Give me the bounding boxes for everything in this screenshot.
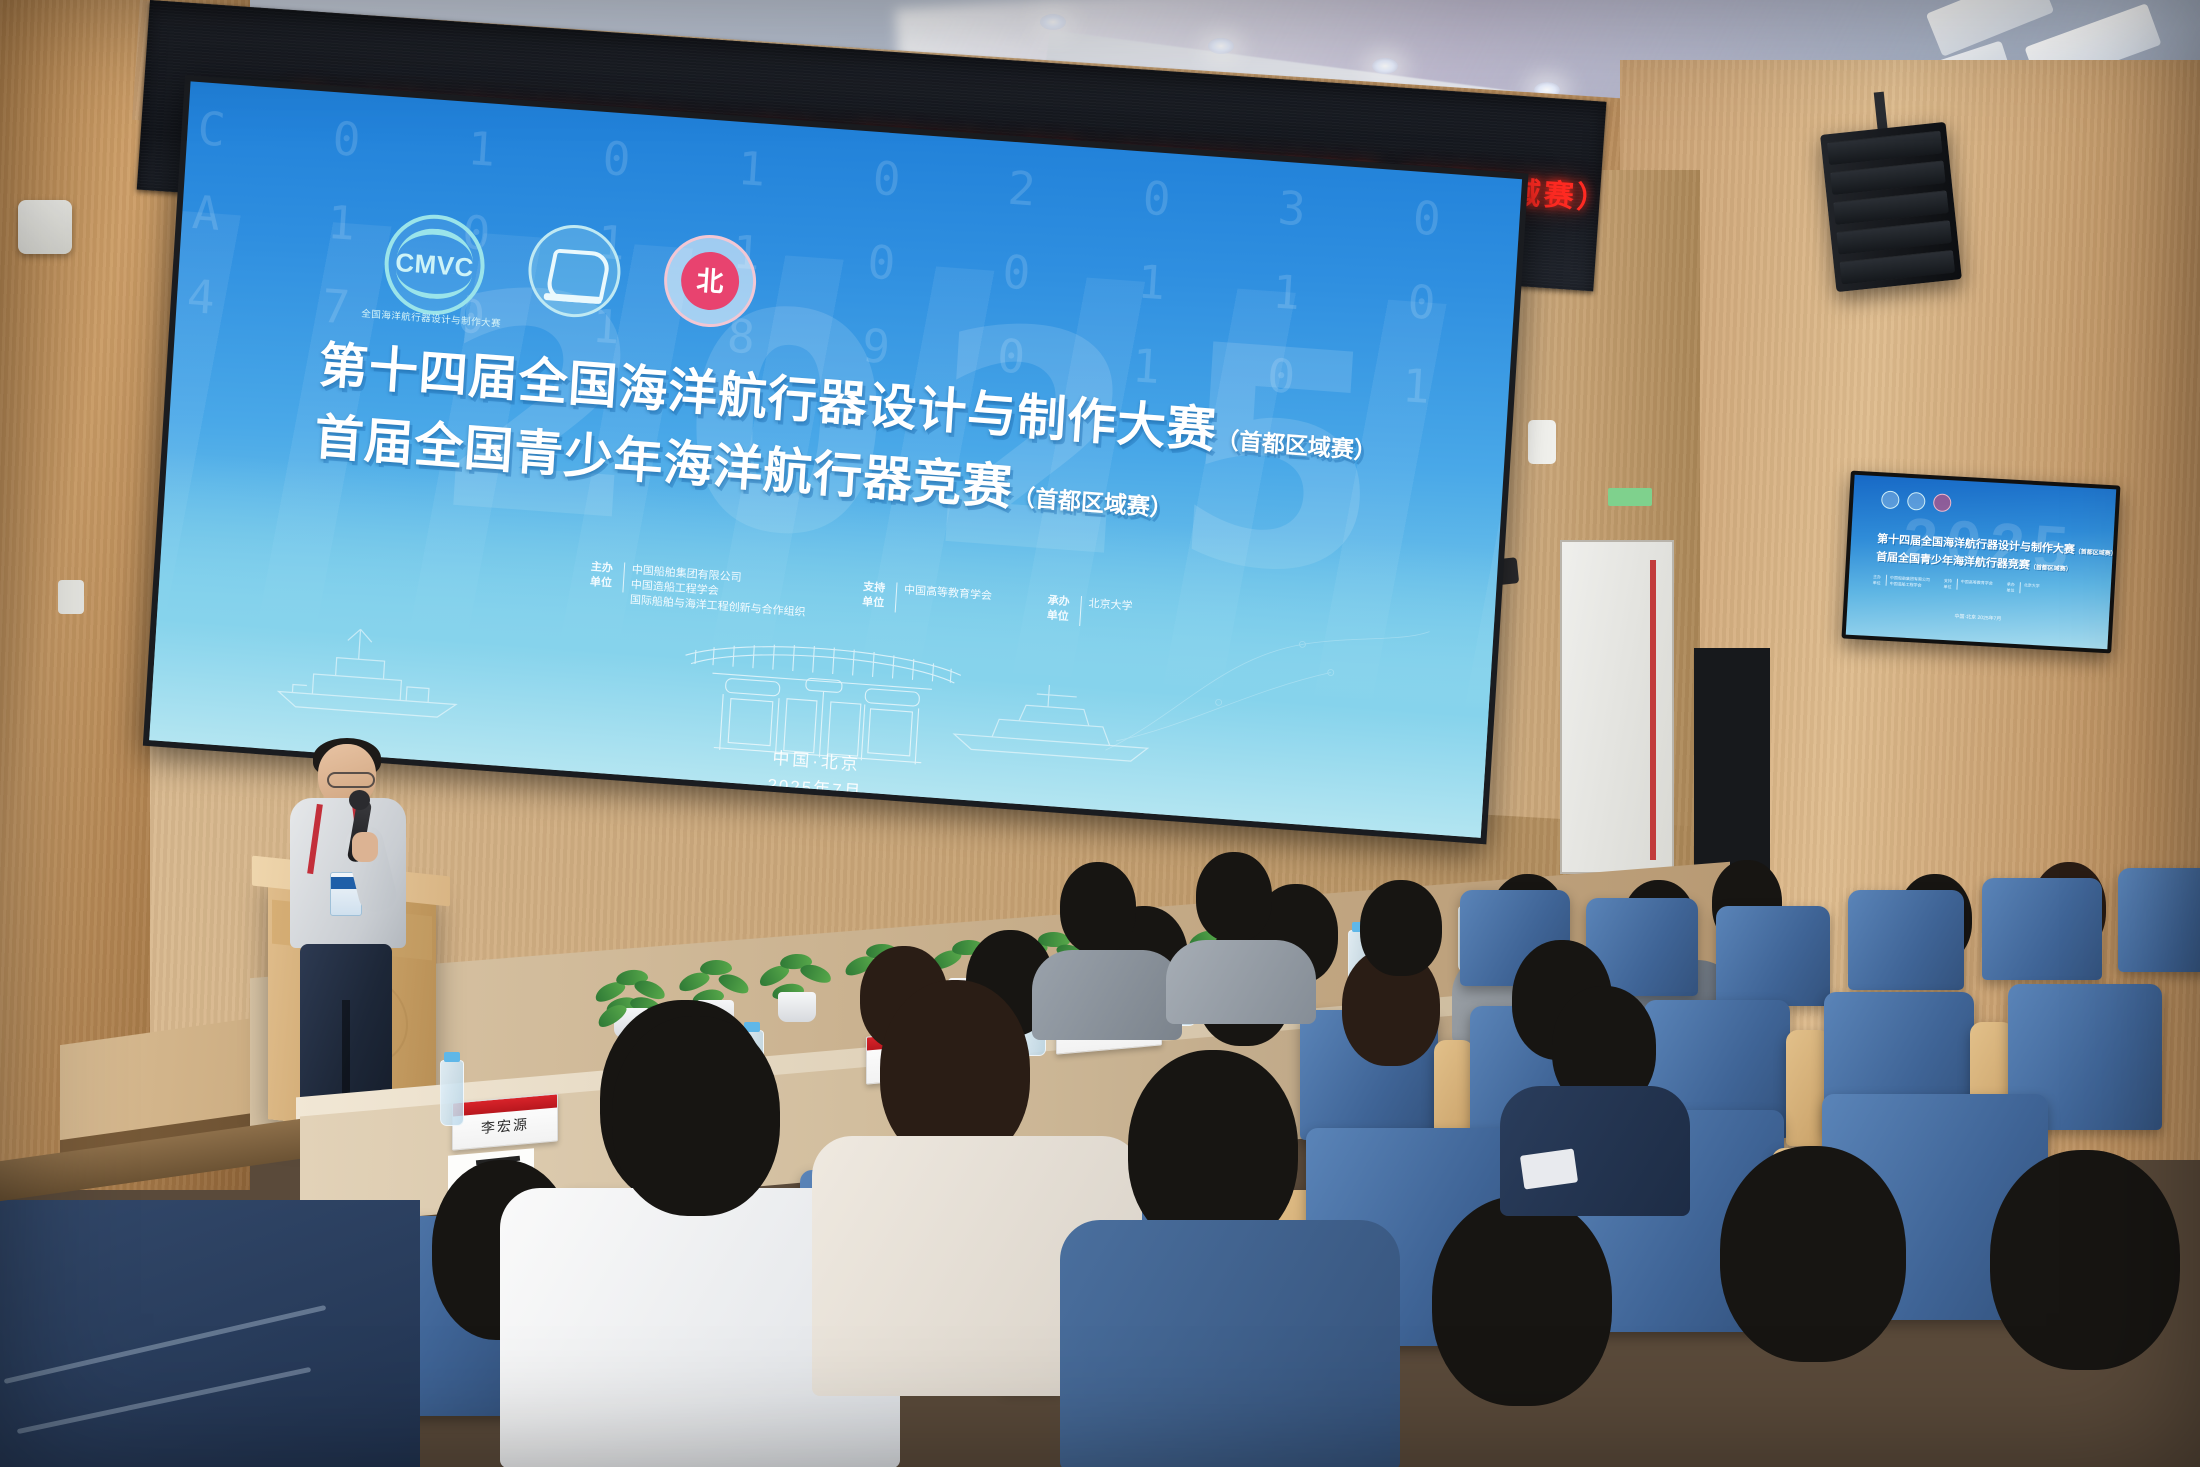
attendee-shoulders — [1060, 1220, 1400, 1467]
auditorium-seat — [1848, 890, 1964, 990]
auditorium-seat — [2118, 868, 2200, 972]
attendee-head — [612, 1016, 780, 1216]
attendee-head — [1196, 852, 1272, 942]
name-card: 李宏源 — [452, 1093, 558, 1150]
warship-illustration — [271, 605, 467, 729]
tv-footer: 中国·北京 2025年7月 — [1847, 607, 2109, 629]
tv-cmvc-logo — [1881, 490, 1900, 509]
wall-panel-device[interactable] — [18, 200, 72, 254]
side-wall-tv: 2025 第十四届全国海洋航行器设计与制作大赛（首都区域赛） 首届全国青少年海洋… — [1842, 471, 2121, 654]
name-card-text: 李宏源 — [453, 1111, 557, 1140]
tv-shipbuilding-logo — [1907, 492, 1926, 511]
microphone-head-icon — [349, 790, 370, 810]
exit-sign-icon — [1608, 488, 1652, 506]
attendee-head — [1060, 862, 1136, 954]
wall-switch[interactable] — [58, 580, 84, 614]
speaker-hand — [352, 832, 378, 862]
main-projection-screen: C 0 1 0 1 0 2 0 3 0 A 1 0 1 1 0 0 1 1 0 … — [143, 75, 1529, 844]
potted-plant — [754, 944, 840, 1022]
peking-university-logo: 北 — [661, 232, 759, 331]
dark-doorway — [1694, 648, 1770, 898]
auditorium-seat — [1982, 878, 2102, 980]
tv-pku-logo — [1933, 493, 1952, 512]
exit-door[interactable] — [1560, 540, 1674, 874]
attendee-shoulders — [1166, 940, 1316, 1024]
screen-title-line2-suffix: （首都区域赛） — [1011, 484, 1173, 522]
attendee-head — [1990, 1150, 2180, 1370]
downlight-icon — [1040, 14, 1066, 30]
attendee-shoulders — [1032, 950, 1182, 1040]
attendee-head — [1360, 880, 1442, 976]
shipbuilding-logo — [526, 222, 624, 321]
attendee-head — [1432, 1196, 1612, 1406]
pku-logo-glyph: 北 — [696, 268, 725, 297]
eyeglasses-icon — [327, 772, 375, 788]
line-array-speaker — [1820, 122, 1962, 292]
organizer-undertaker-role: 承办 单位 — [1046, 594, 1082, 626]
water-bottle — [440, 1060, 464, 1126]
attendee-shoulders — [1500, 1086, 1690, 1216]
tv-logo-row — [1881, 490, 1952, 512]
speaker-leg-gap — [342, 1000, 350, 1104]
organizer-host-role: 主办 单位 — [589, 560, 625, 592]
door-edge-strip — [1650, 560, 1656, 860]
auditorium-seat — [1716, 906, 1830, 1006]
organizer-supporter-role: 支持 单位 — [862, 580, 898, 612]
attendee-head — [1720, 1146, 1906, 1362]
screen-title-line1-suffix: （首都区域赛） — [1215, 427, 1377, 465]
downlight-icon — [1372, 58, 1398, 74]
wall-sensor — [1528, 420, 1556, 464]
cmvc-logo: CMVC — [382, 211, 488, 318]
screen-network-lines — [1095, 590, 1435, 784]
conference-hall-photo: 第十四届全国海洋航行器设计与制作大赛暨首届全国青少年海洋航行器竞赛（首都区域赛）… — [0, 0, 2200, 1467]
downlight-icon — [1208, 38, 1234, 54]
